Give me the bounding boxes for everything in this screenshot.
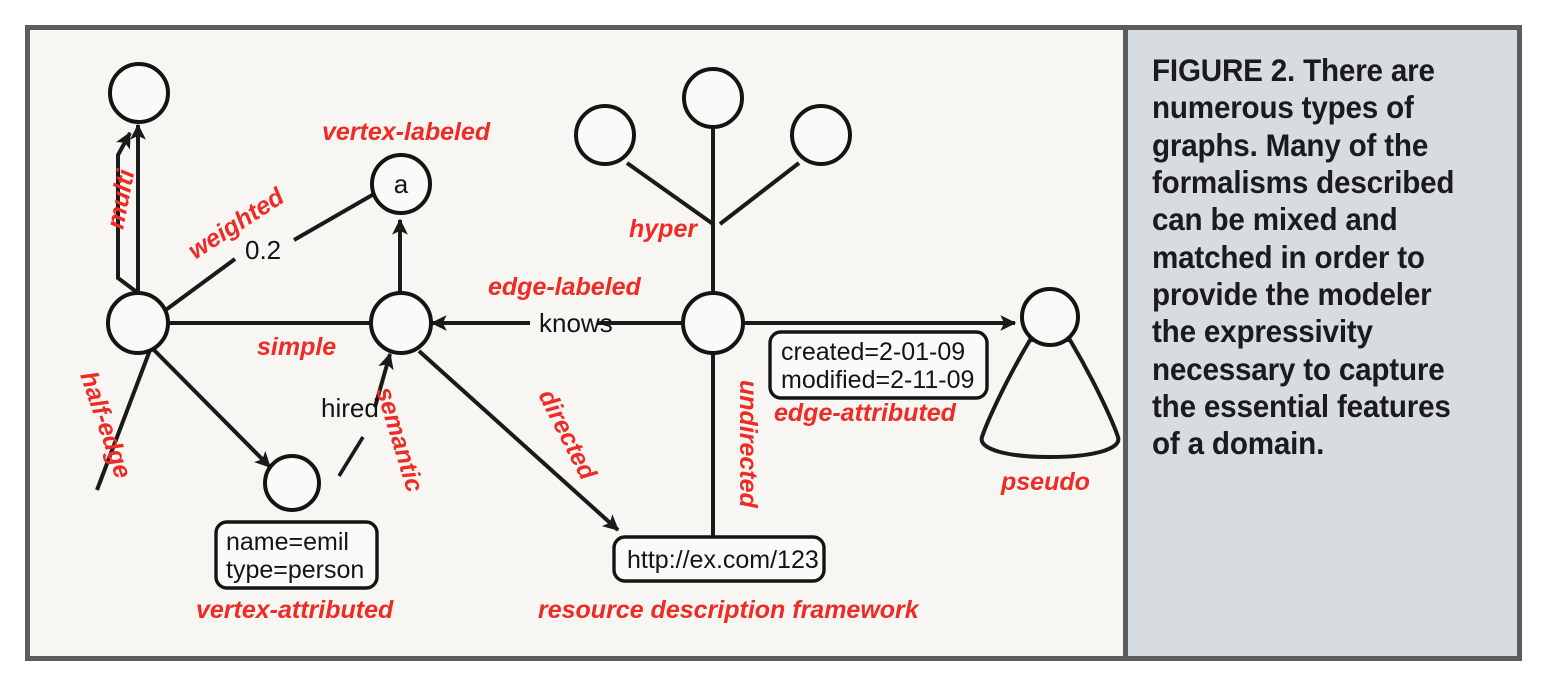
figure-caption: FIGURE 2. There are numerous types of gr… <box>1152 52 1471 462</box>
node-hub[interactable] <box>683 293 743 353</box>
graph-diagram: a name <box>30 30 1123 656</box>
annotation-multi: multi <box>101 166 140 231</box>
annotation-undirected: undirected <box>734 380 762 509</box>
annotation-semantic: semantic <box>370 384 428 496</box>
caption-panel: FIGURE 2. There are numerous types of gr… <box>1128 30 1517 656</box>
vertex-attr-line-2: type=person <box>226 556 364 584</box>
edge-directed-to-person <box>154 350 270 467</box>
label-weight: 0.2 <box>245 235 281 265</box>
figure-frame: a name <box>25 25 1522 661</box>
edge-attr-line-2: modified=2-11-09 <box>781 366 974 394</box>
vertex-attr-line-1: name=emil <box>226 528 349 556</box>
node-multi-target[interactable] <box>110 64 168 122</box>
node-label-a: a <box>394 169 409 199</box>
diagram-panel: a name <box>30 30 1123 656</box>
edge-attributed-box: created=2-01-09 modified=2-11-09 <box>770 332 987 398</box>
label-hired: hired <box>321 393 379 423</box>
annotation-edge-attributed: edge-attributed <box>774 399 957 427</box>
edge-attr-line-1: created=2-01-09 <box>781 338 965 366</box>
node-hyper-leaf-left[interactable] <box>576 106 634 164</box>
annotation-half-edge: half-edge <box>74 368 137 482</box>
node-center[interactable] <box>371 293 431 353</box>
annotation-hyper: hyper <box>629 215 698 243</box>
node-hyper-leaf-right[interactable] <box>792 106 850 164</box>
annotation-simple: simple <box>257 333 336 361</box>
rdf-resource-box: http://ex.com/123 <box>614 537 824 581</box>
annotation-directed: directed <box>533 385 602 485</box>
label-knows: knows <box>539 308 613 338</box>
edge-hyper <box>627 107 799 293</box>
annotation-vertex-labeled: vertex-labeled <box>322 118 491 146</box>
annotation-pseudo: pseudo <box>1000 468 1090 496</box>
annotation-rdf: resource description framework <box>538 596 920 624</box>
vertex-attributed-box: name=emil type=person <box>216 522 377 588</box>
node-hyper-leaf-top[interactable] <box>684 69 742 127</box>
figure-root: a name <box>0 0 1560 699</box>
annotation-vertex-attributed: vertex-attributed <box>196 596 394 624</box>
node-left-hub[interactable] <box>108 293 168 353</box>
node-pseudo[interactable] <box>982 289 1119 457</box>
annotation-edge-labeled: edge-labeled <box>488 273 642 301</box>
edge-directed-to-rdf <box>419 351 618 530</box>
rdf-resource-text: http://ex.com/123 <box>627 546 819 574</box>
node-vertex-attributed[interactable] <box>265 456 319 510</box>
